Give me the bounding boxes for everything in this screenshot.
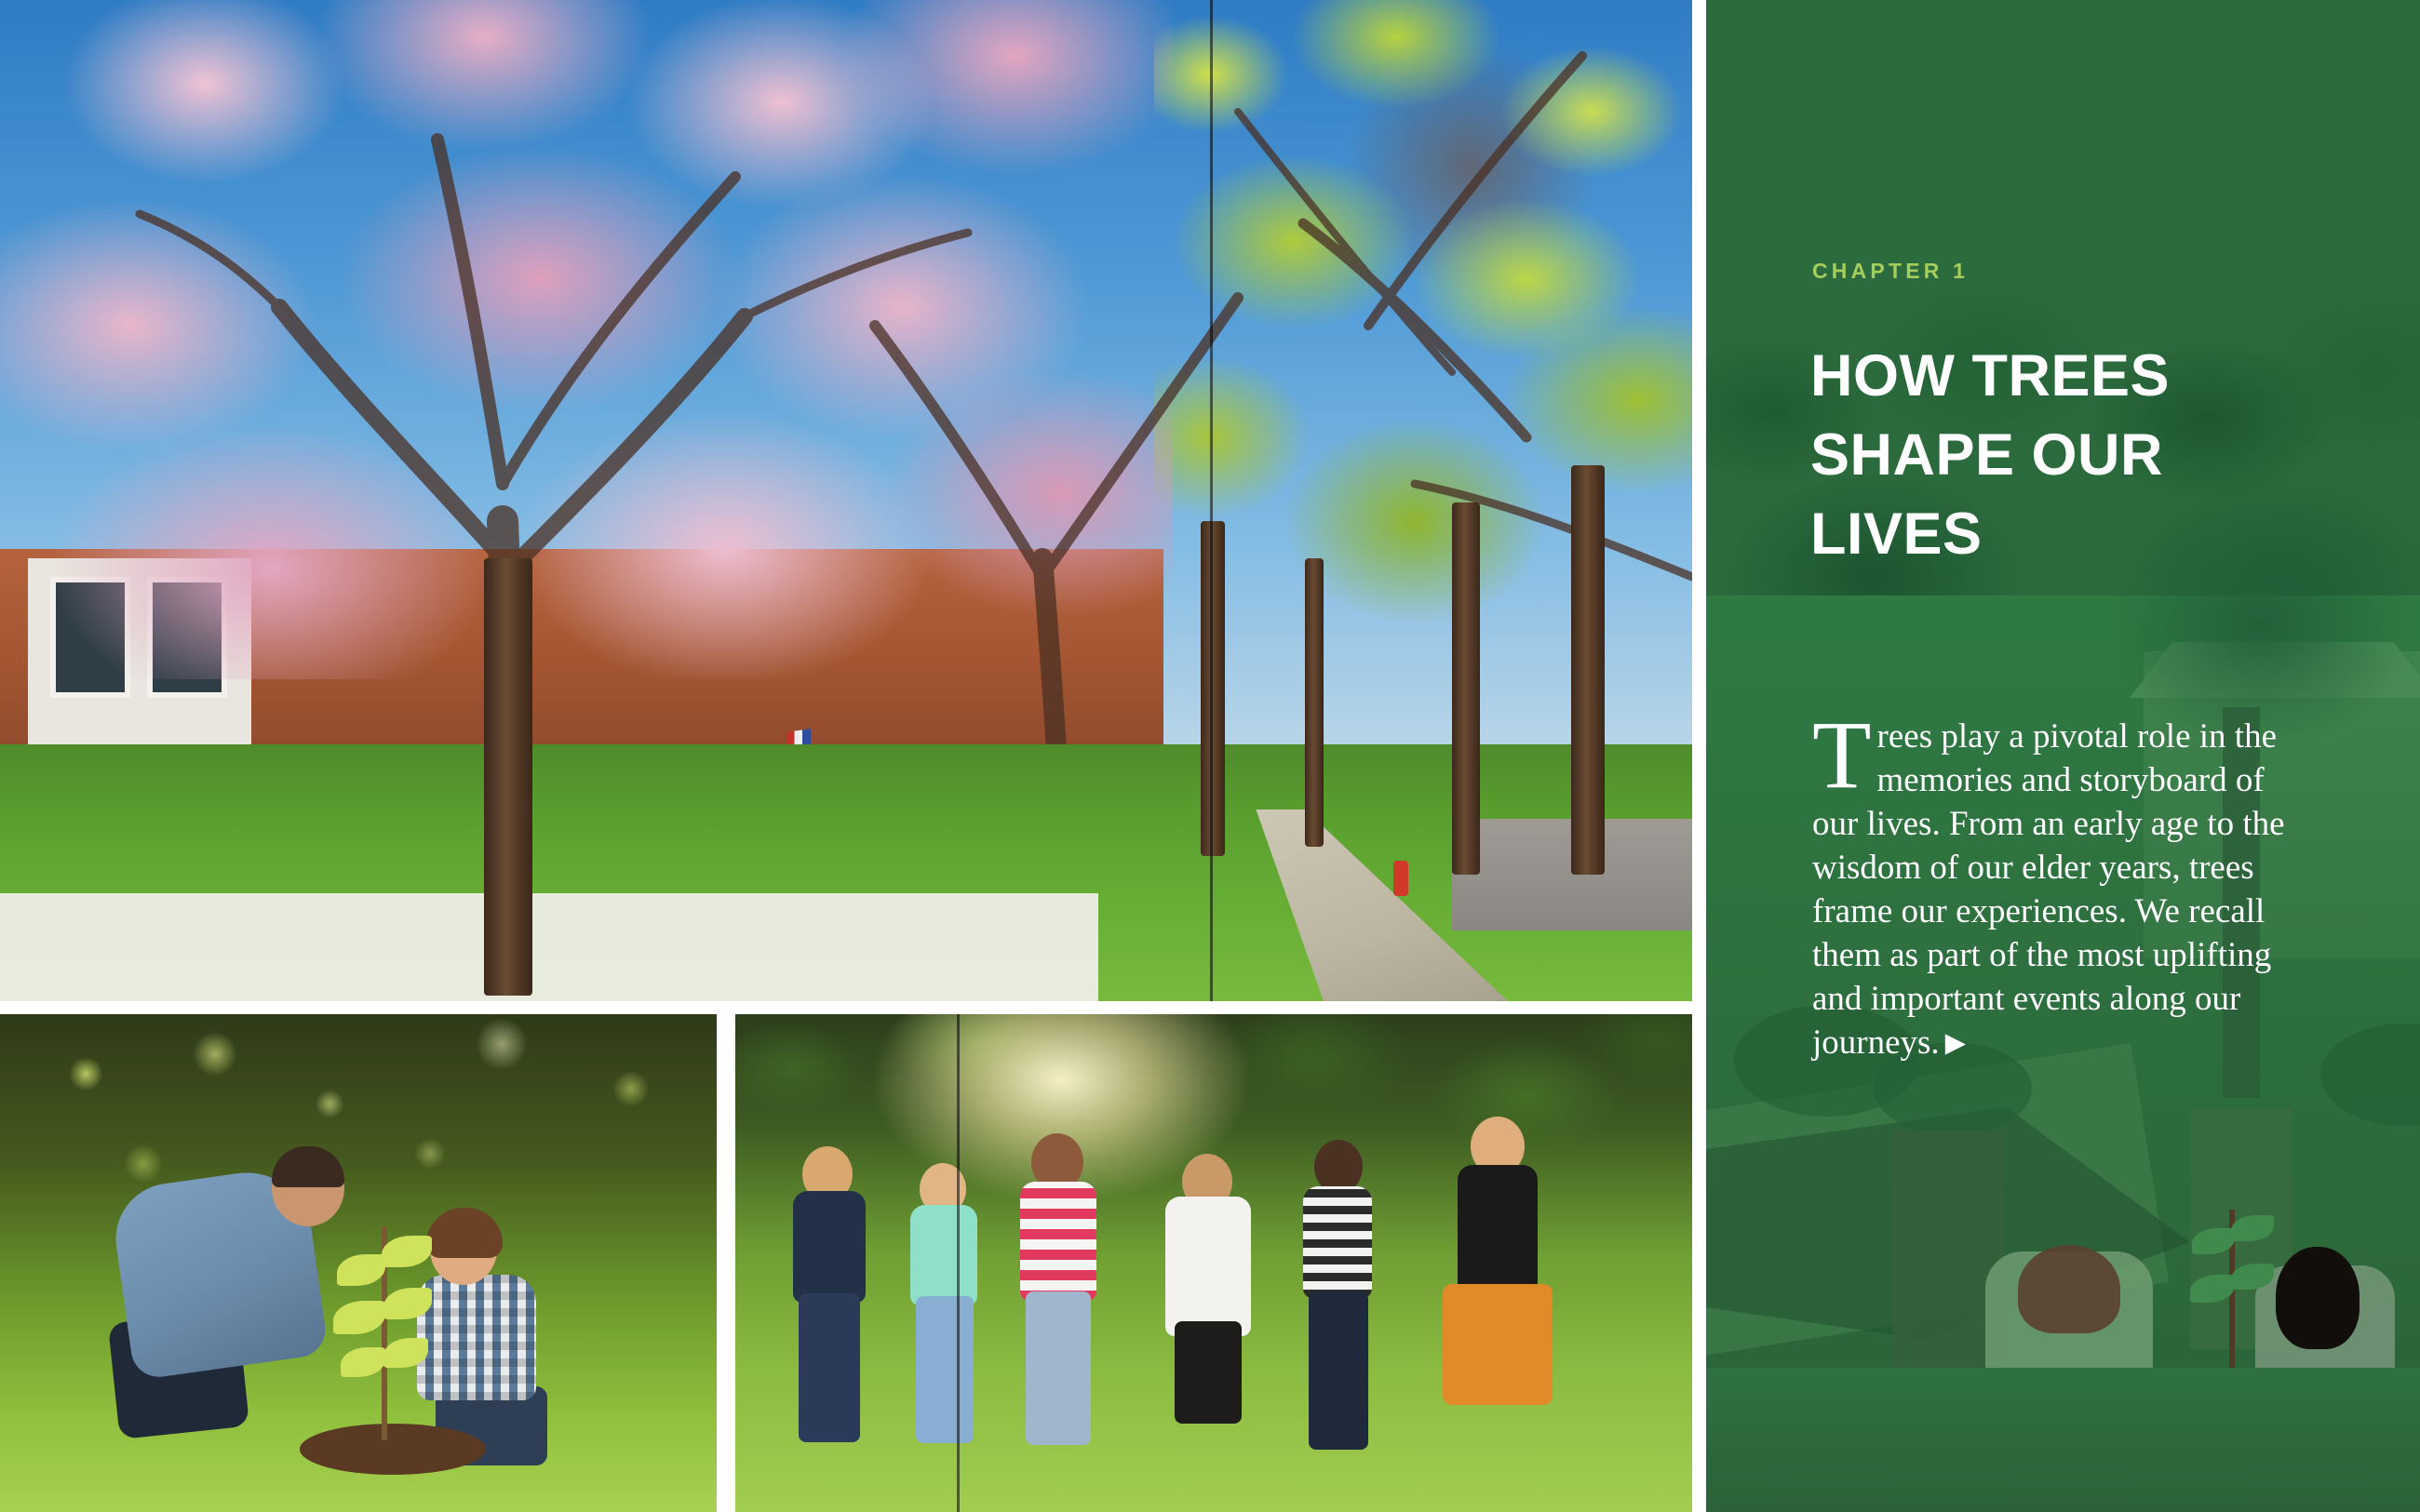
street-tree-trunk	[1201, 521, 1225, 856]
continue-arrow-icon: ▶	[1940, 1028, 1966, 1058]
photo-children-walking-holding-hands	[735, 1014, 1692, 1512]
photo-father-and-son-planting-tree	[0, 1014, 717, 1512]
child-shorts	[1175, 1321, 1242, 1424]
chapter-spread: CHAPTER 1 HOW TREES SHAPE OUR LIVES Tree…	[0, 0, 2420, 1512]
chapter-panel: CHAPTER 1 HOW TREES SHAPE OUR LIVES Tree…	[1706, 0, 2420, 1512]
fire-hydrant	[1393, 861, 1408, 896]
street-tree-trunk	[1571, 465, 1605, 875]
page-gutter-seam	[957, 1014, 960, 1512]
child-top	[910, 1205, 977, 1305]
child-pants	[916, 1296, 974, 1443]
sapling-leaf	[341, 1347, 385, 1377]
child-pants	[1026, 1291, 1091, 1445]
chapter-label: CHAPTER 1	[1812, 259, 1969, 284]
sapling-leaf	[383, 1288, 432, 1319]
chapter-body-text: rees play a pivotal role in the memories…	[1812, 717, 2285, 1062]
page-gutter-seam	[1210, 0, 1213, 1001]
child-floral-skirt	[1443, 1284, 1553, 1405]
child-top	[1458, 1165, 1538, 1293]
fallen-petals	[0, 893, 1098, 1001]
photo-collage	[0, 0, 1692, 1512]
child-top	[1165, 1197, 1251, 1336]
sapling-leaf	[382, 1236, 432, 1267]
child-striped-top	[1020, 1182, 1096, 1301]
child-top	[793, 1191, 866, 1303]
sapling-tree	[333, 1226, 436, 1440]
sapling-leaf	[383, 1338, 428, 1368]
child-striped-top	[1303, 1186, 1372, 1298]
child-pants	[799, 1293, 860, 1442]
street-tree-trunk	[1305, 558, 1324, 847]
chapter-title-line-1: HOW TREES	[1810, 337, 2369, 416]
drop-cap: T	[1812, 715, 1877, 795]
sapling-leaf	[333, 1301, 385, 1334]
street-tree-trunk	[1452, 502, 1480, 875]
chapter-content: CHAPTER 1 HOW TREES SHAPE OUR LIVES Tree…	[1706, 0, 2420, 1512]
blossom-tree-trunk	[484, 558, 532, 996]
chapter-body-paragraph: Trees play a pivotal role in the memorie…	[1812, 715, 2306, 1065]
chapter-title-line-3: LIVES	[1810, 495, 2369, 574]
chapter-title: HOW TREES SHAPE OUR LIVES	[1810, 337, 2369, 574]
child-pants	[1309, 1291, 1368, 1450]
sapling-leaf	[337, 1254, 385, 1286]
photo-blossoming-tree-street	[0, 0, 1692, 1001]
chapter-title-line-2: SHAPE OUR	[1810, 416, 2369, 495]
